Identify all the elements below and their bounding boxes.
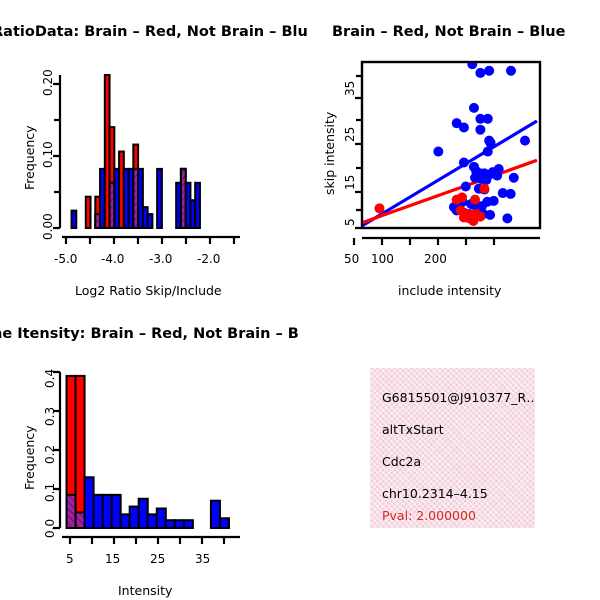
panel-ratio-histogram: RatioData: Brain – Red, Not Brain – Blu … [0, 0, 300, 300]
panel-info: G6815501@J910377_R… altTxStart Cdc2a chr… [300, 300, 600, 600]
intensity-histogram-plot [0, 300, 300, 600]
ratio-histogram-plot [0, 0, 300, 300]
info-panel-box: G6815501@J910377_R… altTxStart Cdc2a chr… [370, 368, 535, 528]
info-pval: Pval: 2.000000 [382, 508, 476, 523]
info-locus: chr10.2314–4.15 [382, 486, 488, 501]
info-event-type: altTxStart [382, 422, 444, 437]
panel-scatter: Brain – Red, Not Brain – Blue skip inten… [300, 0, 600, 300]
info-probe-id: G6815501@J910377_R… [382, 390, 535, 405]
info-gene: Cdc2a [382, 454, 421, 469]
panel-intensity-histogram: ne Itensity: Brain – Red, Not Brain – B … [0, 300, 300, 600]
scatter-plot [300, 0, 600, 300]
